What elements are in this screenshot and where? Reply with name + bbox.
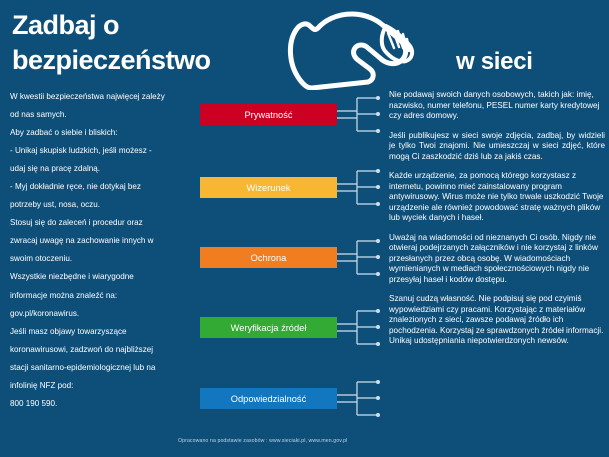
left-paragraph: W kwestii bezpieczeństwa najwięcej zależ…: [10, 92, 192, 102]
left-paragraph: udaj się na pracę zdalną.: [10, 164, 192, 174]
right-block-image: Jeśli publikujesz w sieci swoje zdjęcia,…: [389, 131, 605, 163]
infographic-poster: Zadbaj o bezpieczeństwo w sieci W kwesti…: [0, 0, 609, 457]
poster-header: Zadbaj o bezpieczeństwo w sieci: [0, 0, 609, 90]
connector-bracket-verification: [337, 305, 385, 349]
hand-drawn-shield-icon: [282, 2, 422, 90]
right-block-text: Każde urządzenie, za pomocą którego korz…: [389, 171, 605, 224]
left-paragraph: Stosuj się do zaleceń i procedur oraz: [10, 218, 192, 228]
right-block-text: Jeśli publikujesz w sieci swoje zdjęcia,…: [389, 131, 605, 163]
category-box-privacy[interactable]: Prywatność: [200, 104, 337, 125]
category-label: Prywatność: [244, 110, 292, 120]
category-boxes: Prywatność Wizerunek Ochrona Weryfikacja…: [200, 92, 340, 442]
connector-bracket-privacy: [337, 92, 385, 136]
left-paragraph: potrzeby ust, nosa, oczu.: [10, 200, 192, 210]
footer-credit: Opracowano na podstawie zasobów : www.si…: [178, 438, 347, 444]
right-block-text: Uważaj na wiadomości od nieznanych Ci os…: [389, 233, 605, 286]
right-block-text: Nie podawaj swoich danych osobowych, tak…: [389, 90, 605, 122]
left-text-column: W kwestii bezpieczeństwa najwięcej zależ…: [10, 92, 192, 417]
left-paragraph: - Myj dokładnie ręce, nie dotykaj bez: [10, 182, 192, 192]
left-paragraph: Jeśli masz objawy towarzyszące: [10, 327, 192, 337]
left-paragraph: infolinię NFZ pod:: [10, 381, 192, 391]
left-paragraph: koronawirusowi, zadzwoń do najbliższej: [10, 345, 192, 355]
connector-bracket-responsibility: [337, 376, 385, 420]
right-block-responsibility: Szanuj cudzą własność. Nie podpisuj się …: [389, 294, 605, 347]
right-block-text: Szanuj cudzą własność. Nie podpisuj się …: [389, 294, 605, 347]
left-paragraph: stacji sanitarno-epidemiologicznej lub n…: [10, 363, 192, 373]
right-block-privacy: Nie podawaj swoich danych osobowych, tak…: [389, 90, 605, 122]
left-paragraph: - Unikaj skupisk ludzkich, jeśli możesz …: [10, 146, 192, 156]
right-block-verification: Uważaj na wiadomości od nieznanych Ci os…: [389, 233, 605, 286]
left-paragraph: swoim otoczeniu.: [10, 254, 192, 264]
left-paragraph: Wszystkie niezbędne i wiarygodne: [10, 272, 192, 282]
page-title-line1: Zadbaj o: [12, 12, 119, 39]
category-box-protection[interactable]: Ochrona: [200, 247, 337, 268]
category-label: Ochrona: [251, 253, 287, 263]
category-label: Wizerunek: [247, 183, 291, 193]
category-label: Weryfikacja źródeł: [231, 323, 307, 333]
left-paragraph: od nas samych.: [10, 110, 192, 120]
left-paragraph: informacje można znaleźć na:: [10, 291, 192, 301]
connector-bracket-image: [337, 165, 385, 209]
page-title-line3: w sieci: [456, 50, 533, 74]
category-label: Odpowiedzialność: [231, 394, 306, 404]
page-title-line2: bezpieczeństwo: [12, 47, 211, 74]
category-box-image[interactable]: Wizerunek: [200, 177, 337, 198]
category-box-responsibility[interactable]: Odpowiedzialność: [200, 388, 337, 409]
category-box-verification[interactable]: Weryfikacja źródeł: [200, 317, 337, 338]
left-paragraph: 800 190 590.: [10, 399, 192, 409]
left-paragraph: Aby zadbać o siebie i bliskich:: [10, 128, 192, 138]
connector-bracket-protection: [337, 235, 385, 279]
left-paragraph: zwracaj uwagę na zachowanie innych w: [10, 236, 192, 246]
left-paragraph: gov.pl/koronawirus.: [10, 309, 192, 319]
right-text-column: Nie podawaj swoich danych osobowych, tak…: [389, 90, 605, 356]
right-block-protection: Każde urządzenie, za pomocą którego korz…: [389, 171, 605, 224]
